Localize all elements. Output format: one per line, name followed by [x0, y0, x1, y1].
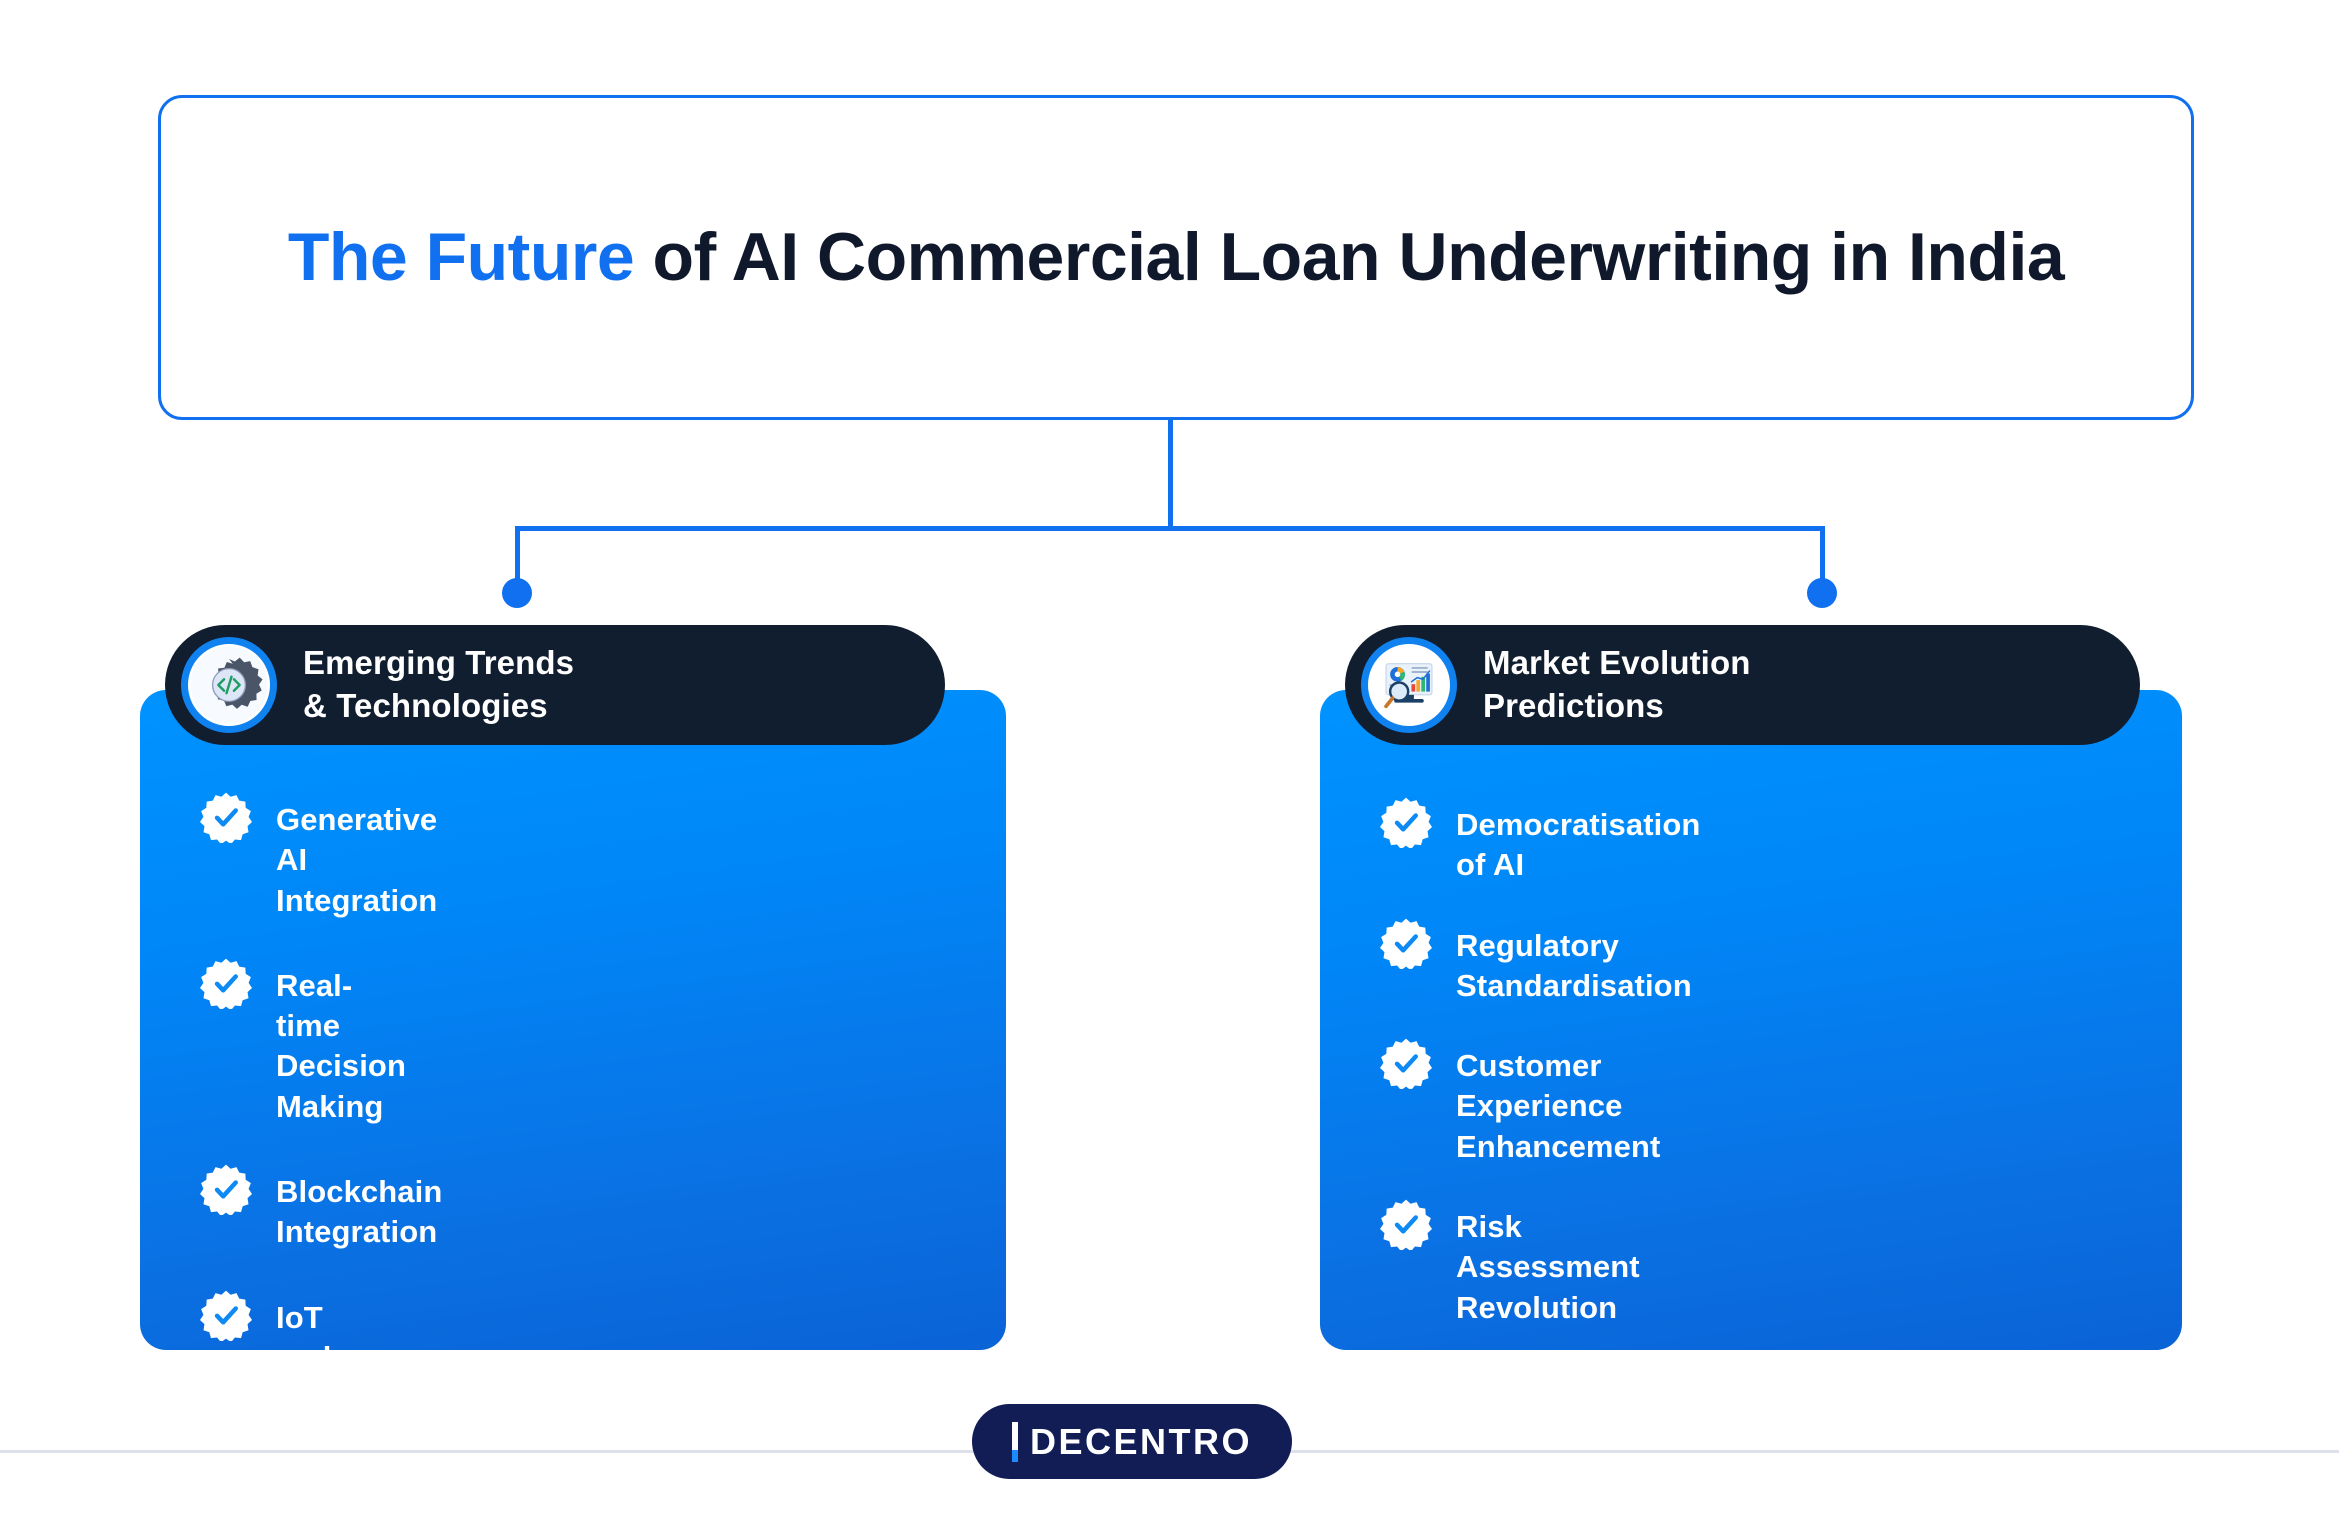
page-title: The Future of AI Commercial Loan Underwr… [288, 217, 2064, 297]
list-item-label: Customer Experience Enhancement [1456, 1041, 1660, 1167]
list-item-label: Democratisation of AI [1456, 800, 1700, 886]
decentro-logo-mark [1012, 1422, 1030, 1462]
market-analytics-icon [1361, 637, 1457, 733]
branch-header-market-evolution[interactable]: Market Evolution Predictions [1345, 625, 2140, 745]
check-badge-icon [1380, 1037, 1432, 1089]
connector-dot-right [1807, 578, 1837, 608]
check-badge-icon [200, 791, 252, 843]
title-accent-text: The Future [288, 219, 634, 295]
feature-list-emerging-trends: Generative AI Integration Real-time Deci… [140, 795, 240, 1499]
list-item-label: Real-time Decision Making [276, 961, 406, 1127]
check-badge-icon [200, 1289, 252, 1341]
branch-card-body [1320, 690, 2182, 1350]
check-badge-icon [200, 957, 252, 1009]
check-badge-icon [1380, 917, 1432, 969]
feature-list-market-evolution: Democratisation of AI Regulatory Standar… [1320, 800, 1420, 1363]
title-box: The Future of AI Commercial Loan Underwr… [158, 95, 2194, 420]
connector-stem-vertical [1168, 420, 1173, 530]
gear-code-icon [181, 637, 277, 733]
check-badge-icon [200, 1163, 252, 1215]
decentro-logo[interactable]: DECENTRO [972, 1404, 1292, 1479]
branch-header-label: Emerging Trends & Technologies [303, 642, 574, 728]
title-rest-text: of AI Commercial Loan Underwriting in In… [634, 219, 2064, 295]
branch-header-emerging-trends[interactable]: Emerging Trends & Technologies [165, 625, 945, 745]
branch-header-label: Market Evolution Predictions [1483, 642, 1750, 728]
connector-horizontal-bar [515, 526, 1825, 531]
check-badge-icon [1380, 1198, 1432, 1250]
connector-dot-left [502, 578, 532, 608]
list-item-label: Risk Assessment Revolution [1456, 1202, 1640, 1328]
infographic-canvas: The Future of AI Commercial Loan Underwr… [0, 0, 2339, 1527]
list-item-label: IoT and Sensor Data [276, 1293, 382, 1459]
list-item-label: Regulatory Standardisation [1456, 921, 1692, 1007]
check-badge-icon [1380, 796, 1432, 848]
list-item-label: Blockchain Integration [276, 1167, 442, 1253]
list-item-label: Generative AI Integration [276, 795, 437, 921]
decentro-logo-text: DECENTRO [1030, 1421, 1252, 1463]
branch-card-body [140, 690, 1006, 1350]
